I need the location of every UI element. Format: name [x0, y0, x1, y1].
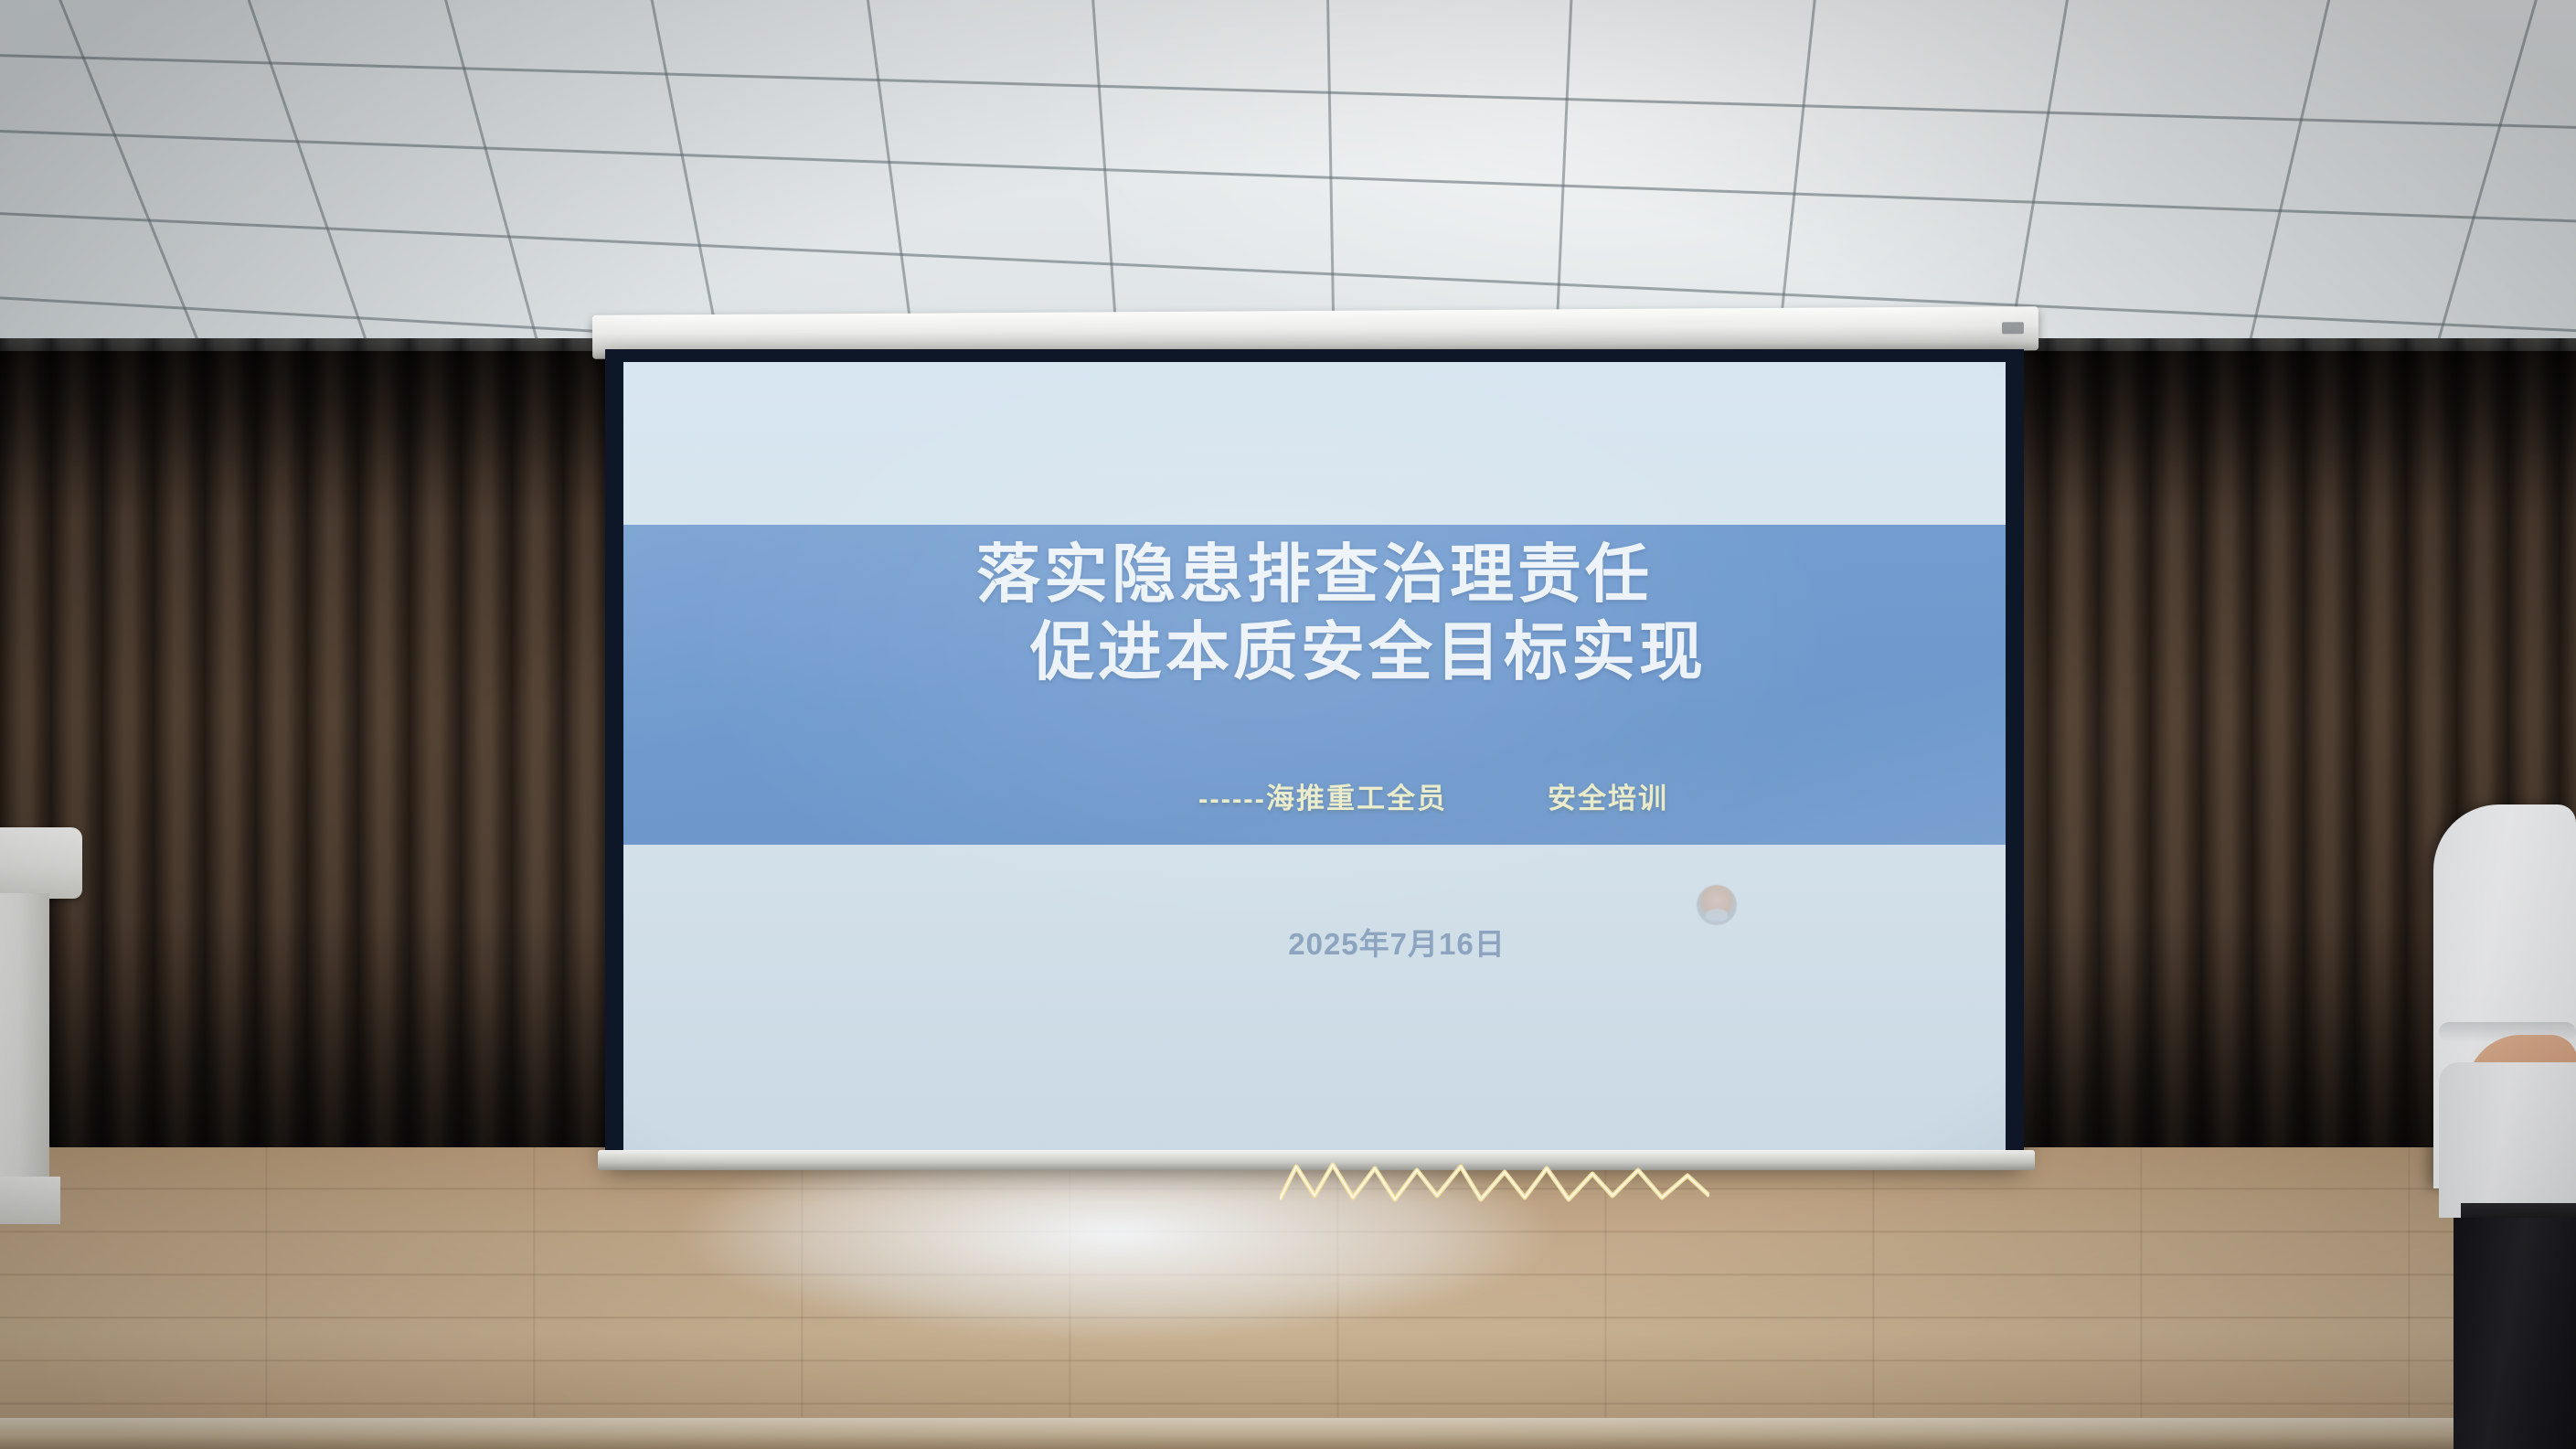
- projection-screen-surface: 落实隐患排查治理责任 促进本质安全目标实现 ------海推重工全员 安全培训 …: [623, 362, 2006, 1150]
- person-trousers: [2454, 1218, 2576, 1449]
- housing-brand-plate-icon: [2002, 322, 2024, 334]
- presentation-slide: 落实隐患排查治理责任 促进本质安全目标实现 ------海推重工全员 安全培训 …: [623, 362, 2006, 1150]
- person-standing: [2433, 804, 2576, 1449]
- slide-title: 落实隐患排查治理责任 促进本质安全目标实现: [623, 536, 2006, 692]
- slide-subtitle: ------海推重工全员 安全培训: [623, 775, 2006, 816]
- lectern-top: [0, 827, 82, 899]
- slide-title-line-1: 落实隐患排查治理责任: [623, 536, 2006, 613]
- light-reflection-zigzag: [1280, 1159, 1709, 1207]
- slide-subtitle-right: 安全培训: [1548, 775, 1668, 816]
- person-shirt-lower: [2439, 1062, 2576, 1218]
- projection-screen-frame: 落实隐患排查治理责任 促进本质安全目标实现 ------海推重工全员 安全培训 …: [605, 349, 2024, 1163]
- profile-avatar-icon: [1697, 885, 1737, 925]
- lectern-column: [0, 893, 49, 1186]
- lectern-base: [0, 1177, 60, 1224]
- slide-subtitle-left: ------海推重工全员: [1198, 775, 1447, 816]
- slide-date: 2025年7月16日: [623, 920, 2006, 964]
- stage-edge-trim: [0, 1418, 2576, 1449]
- lectern: [0, 827, 82, 1303]
- conference-room-scene: 落实隐患排查治理责任 促进本质安全目标实现 ------海推重工全员 安全培训 …: [0, 0, 2576, 1449]
- slide-title-line-2: 促进本质安全目标实现: [623, 613, 2006, 691]
